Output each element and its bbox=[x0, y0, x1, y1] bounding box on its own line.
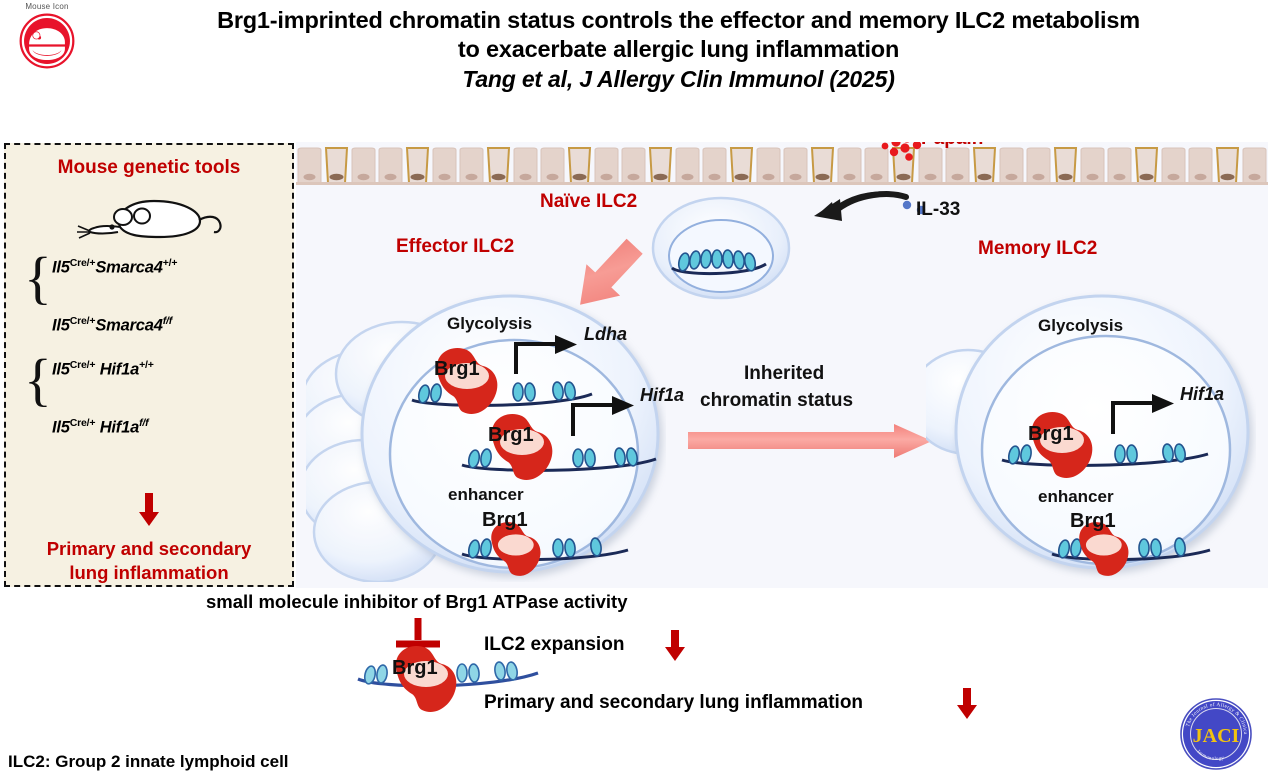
memory-ilc2-label: Memory ILC2 bbox=[978, 238, 1097, 260]
memory-brg1-label-enhancer: Brg1 bbox=[1070, 510, 1116, 533]
effector-ldha-arrow-icon bbox=[511, 332, 581, 376]
genotype-sup2: f/f bbox=[139, 417, 148, 429]
ilc2-expansion-down-arrow-icon bbox=[664, 630, 686, 662]
effector-ilc2-label: Effector ILC2 bbox=[396, 236, 514, 258]
genotype-gene2: Hif1a bbox=[100, 361, 139, 379]
genotype-sup2: f/f bbox=[163, 315, 172, 327]
il33-label: IL-33 bbox=[916, 199, 960, 221]
memory-enhancer-label: enhancer bbox=[1038, 487, 1114, 507]
genotype-gene1: Il5 bbox=[52, 259, 70, 277]
genotype-gene2: Smarca4 bbox=[95, 259, 162, 277]
genotype-line-hif1a-wt: Il5Cre/+ Hif1a+/+ bbox=[52, 359, 154, 380]
papain-label: Papain bbox=[921, 142, 983, 150]
genotype-sup1: Cre/+ bbox=[70, 417, 96, 429]
memory-gene-hif1a: Hif1a bbox=[1180, 384, 1224, 405]
mouse-icon-block: Mouse Icon bbox=[8, 2, 86, 69]
inhibitor-caption: small molecule inhibitor of Brg1 ATPase … bbox=[206, 591, 628, 613]
inhibitor-brg1-label: Brg1 bbox=[392, 657, 438, 680]
genotype-gene2: Smarca4 bbox=[95, 317, 162, 335]
jaci-logo-text: JACI bbox=[1193, 725, 1240, 747]
genetics-panel-title: Mouse genetic tools bbox=[6, 157, 292, 179]
naive-ilc2-label: Naïve ILC2 bbox=[540, 191, 637, 213]
page-title: Brg1-imprinted chromatin status controls… bbox=[96, 6, 1261, 94]
effector-enhancer-label: enhancer bbox=[448, 485, 524, 505]
citation-line: Tang et al, J Allergy Clin Immunol (2025… bbox=[96, 64, 1261, 94]
genotype-gene1: Il5 bbox=[52, 317, 70, 335]
genotype-line-hif1a-ko: Il5Cre/+ Hif1af/f bbox=[52, 417, 148, 438]
genotype-sup1: Cre/+ bbox=[70, 257, 96, 269]
naive-ilc2-cell bbox=[648, 190, 794, 302]
genotype-gene1: Il5 bbox=[52, 361, 70, 379]
genotype-gene2: Hif1a bbox=[100, 419, 139, 437]
effector-gene-ldha: Ldha bbox=[584, 324, 627, 345]
effector-brg1-label-hif1a: Brg1 bbox=[488, 424, 534, 447]
jaci-journal-logo: The Journal of Allergy & Clinical Immuno… bbox=[1178, 696, 1254, 772]
ilc2-expansion-label: ILC2 expansion bbox=[484, 634, 624, 656]
brg1-protein-icon bbox=[478, 404, 564, 490]
effector-glycolysis-label: Glycolysis bbox=[447, 314, 532, 334]
genotype-sup1: Cre/+ bbox=[70, 359, 96, 371]
title-line-2: to exacerbate allergic lung inflammation bbox=[96, 35, 1261, 64]
effector-gene-hif1a: Hif1a bbox=[640, 385, 684, 406]
red-down-arrow-icon bbox=[138, 493, 160, 527]
genetics-outcome-line1: Primary and secondary bbox=[6, 537, 292, 561]
diagram-panel: Papain IL-33 Naïve ILC2 bbox=[296, 142, 1268, 588]
genetics-outcome-text: Primary and secondary lung inflammation bbox=[6, 537, 292, 585]
memory-hif1a-arrow-icon bbox=[1108, 390, 1178, 436]
genotype-group-smarca4: { Il5Cre/+Smarca4+/+ Il5Cre/+Smarca4f/f bbox=[24, 255, 286, 347]
genotype-line-smarca4-ko: Il5Cre/+Smarca4f/f bbox=[52, 315, 172, 336]
genetics-outcome-line2: lung inflammation bbox=[6, 561, 292, 585]
memory-glycolysis-label: Glycolysis bbox=[1038, 316, 1123, 336]
genotype-sup2: +/+ bbox=[163, 257, 178, 269]
lung-inflammation-label: Primary and secondary lung inflammation bbox=[484, 692, 863, 714]
il33-stimulation-arrow-icon bbox=[802, 190, 912, 236]
effector-hif1a-arrow-icon bbox=[568, 392, 638, 438]
effector-brg1-label-enhancer: Brg1 bbox=[482, 509, 528, 532]
mouse-line-drawing-icon bbox=[68, 193, 228, 243]
inherited-line-2: chromatin status bbox=[700, 390, 853, 412]
inherited-chromatin-arrow-icon bbox=[686, 422, 936, 462]
genotype-sup2: +/+ bbox=[139, 359, 154, 371]
brace-icon: { bbox=[24, 351, 44, 443]
title-line-1: Brg1-imprinted chromatin status controls… bbox=[96, 6, 1261, 35]
mouse-genetic-tools-panel: Mouse genetic tools { Il5Cre/+Smarca4+/+… bbox=[4, 143, 294, 587]
memory-brg1-label-hif1a: Brg1 bbox=[1028, 423, 1074, 446]
red-mouse-circle-logo-icon bbox=[19, 13, 75, 69]
genotype-group-hif1a: { Il5Cre/+ Hif1a+/+ Il5Cre/+ Hif1af/f bbox=[24, 357, 286, 449]
genotype-line-smarca4-wt: Il5Cre/+Smarca4+/+ bbox=[52, 257, 177, 278]
effector-brg1-label-ldha: Brg1 bbox=[434, 358, 480, 381]
genotype-sup1: Cre/+ bbox=[70, 315, 96, 327]
airway-epithelium-icon bbox=[296, 146, 1268, 186]
lung-inflammation-down-arrow-icon bbox=[956, 688, 978, 720]
brace-icon: { bbox=[24, 249, 44, 341]
genotype-gene1: Il5 bbox=[52, 419, 70, 437]
footnote-abbreviation: ILC2: Group 2 innate lymphoid cell bbox=[8, 752, 289, 772]
mouse-icon-caption: Mouse Icon bbox=[8, 2, 86, 12]
inherited-line-1: Inherited bbox=[744, 363, 824, 385]
